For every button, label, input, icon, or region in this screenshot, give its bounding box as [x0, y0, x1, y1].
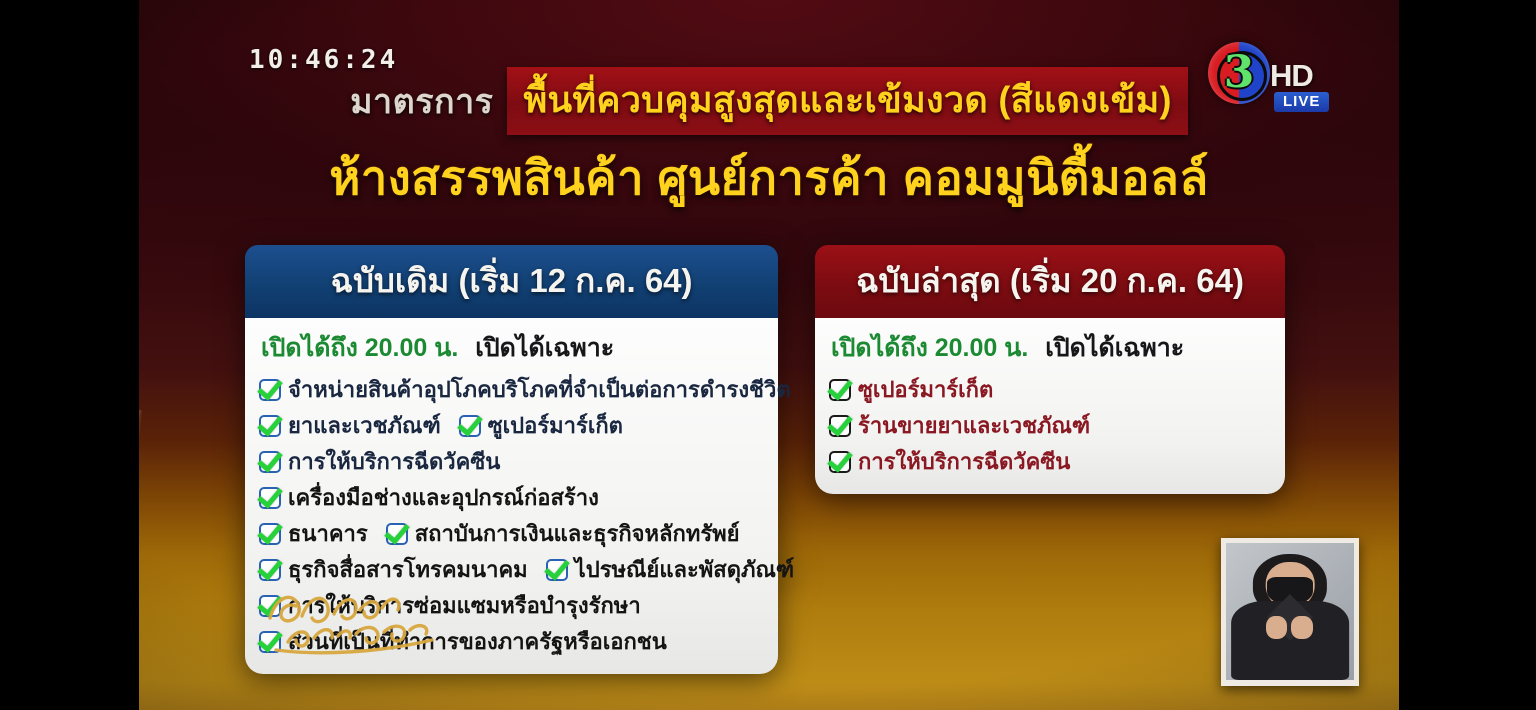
- list-item-segment: การให้บริการฉีดวัคซีน: [829, 444, 1070, 479]
- list-item-label: ร้านขายยาและเวชภัณฑ์: [858, 408, 1090, 443]
- list-item-label: ยาและเวชภัณฑ์: [288, 408, 441, 443]
- pillarbox-right: [1399, 0, 1536, 710]
- list-item-segment: ซูเปอร์มาร์เก็ต: [829, 372, 993, 407]
- list-item-segment: ส่วนที่เป็นที่ทำการของภาครัฐหรือเอกชน: [259, 624, 667, 659]
- interpreter-hand-left: [1266, 616, 1288, 639]
- interpreter-hand-right: [1291, 616, 1313, 639]
- on-air-clock: 10:46:24: [249, 45, 398, 75]
- checkmark-icon: [386, 523, 408, 545]
- checkmark-icon: [259, 451, 281, 473]
- open-hours-line-previous: เปิดได้ถึง 20.00 น. เปิดได้เฉพาะ: [261, 328, 762, 368]
- panel-body-previous: เปิดได้ถึง 20.00 น. เปิดได้เฉพาะ จำหน่าย…: [245, 318, 778, 674]
- sign-language-interpreter-inset: [1221, 538, 1359, 686]
- list-item: การให้บริการฉีดวัคซีน: [259, 444, 762, 479]
- list-item-label: สถาบันการเงินและธุรกิจหลักทรัพย์: [415, 516, 740, 551]
- headline-title: ห้างสรรพสินค้า ศูนย์การค้า คอมมูนิตี้มอล…: [139, 140, 1399, 215]
- checkmark-icon: [829, 451, 851, 473]
- checkmark-icon: [259, 559, 281, 581]
- channel-number: 3: [1208, 42, 1270, 104]
- checkmark-icon: [259, 379, 281, 401]
- list-item: ยาและเวชภัณฑ์ซูเปอร์มาร์เก็ต: [259, 408, 762, 443]
- channel-3-hd-live-logo: 3 HD LIVE: [1208, 42, 1330, 118]
- headline-banner-text: พื้นที่ควบคุมสูงสุดและเข้มงวด (สีแดงเข้ม…: [523, 79, 1171, 120]
- open-until-label: เปิดได้ถึง 20.00 น.: [831, 334, 1028, 362]
- broadcast-screen: 10:46:24 3 HD LIVE มาตรการ พื้นที่ควบคุม…: [0, 0, 1536, 710]
- list-item-segment: เครื่องมือช่างและอุปกรณ์ก่อสร้าง: [259, 480, 599, 515]
- list-item-segment: การให้บริการฉีดวัคซีน: [259, 444, 500, 479]
- list-item-segment: ไปรษณีย์และพัสดุภัณฑ์: [546, 552, 795, 587]
- panel-latest-version: ฉบับล่าสุด (เริ่ม 20 ก.ค. 64) เปิดได้ถึง…: [815, 245, 1285, 494]
- panel-previous-version: ฉบับเดิม (เริ่ม 12 ก.ค. 64) เปิดได้ถึง 2…: [245, 245, 778, 674]
- headline-kicker: มาตรการ: [350, 74, 493, 128]
- checkmark-icon: [829, 415, 851, 437]
- pillarbox-left: [0, 0, 139, 710]
- list-item-label: การให้บริการซ่อมแซมหรือบำรุงรักษา: [288, 588, 641, 623]
- checkmark-icon: [259, 523, 281, 545]
- list-item-segment: การให้บริการซ่อมแซมหรือบำรุงรักษา: [259, 588, 641, 623]
- list-item: ซูเปอร์มาร์เก็ต: [829, 372, 1269, 407]
- checkmark-icon: [259, 487, 281, 509]
- checkmark-icon: [459, 415, 481, 437]
- list-item-label: จำหน่ายสินค้าอุปโภคบริโภคที่จำเป็นต่อการ…: [288, 372, 791, 407]
- panel-body-latest: เปิดได้ถึง 20.00 น. เปิดได้เฉพาะ ซูเปอร์…: [815, 318, 1285, 494]
- allowed-business-list-latest: ซูเปอร์มาร์เก็ตร้านขายยาและเวชภัณฑ์การให…: [829, 372, 1269, 479]
- interpreter-video: [1226, 543, 1354, 680]
- open-only-label: เปิดได้เฉพาะ: [1045, 334, 1184, 362]
- list-item-segment: ธนาคาร: [259, 516, 368, 551]
- open-hours-line-latest: เปิดได้ถึง 20.00 น. เปิดได้เฉพาะ: [831, 328, 1269, 368]
- list-item: ส่วนที่เป็นที่ทำการของภาครัฐหรือเอกชน: [259, 624, 762, 659]
- open-only-label: เปิดได้เฉพาะ: [475, 334, 614, 362]
- panel-header-latest: ฉบับล่าสุด (เริ่ม 20 ก.ค. 64): [815, 245, 1285, 318]
- list-item-label: ซูเปอร์มาร์เก็ต: [858, 372, 993, 407]
- open-until-label: เปิดได้ถึง 20.00 น.: [261, 334, 458, 362]
- list-item-segment: ธุรกิจสื่อสารโทรคมนาคม: [259, 552, 528, 587]
- list-item: ธนาคารสถาบันการเงินและธุรกิจหลักทรัพย์: [259, 516, 762, 551]
- checkmark-icon: [546, 559, 568, 581]
- list-item-label: การให้บริการฉีดวัคซีน: [288, 444, 500, 479]
- list-item-segment: จำหน่ายสินค้าอุปโภคบริโภคที่จำเป็นต่อการ…: [259, 372, 791, 407]
- list-item-label: ไปรษณีย์และพัสดุภัณฑ์: [575, 552, 795, 587]
- checkmark-icon: [829, 379, 851, 401]
- list-item: ร้านขายยาและเวชภัณฑ์: [829, 408, 1269, 443]
- panel-header-previous: ฉบับเดิม (เริ่ม 12 ก.ค. 64): [245, 245, 778, 318]
- allowed-business-list-previous: จำหน่ายสินค้าอุปโภคบริโภคที่จำเป็นต่อการ…: [259, 372, 762, 659]
- hd-label: HD: [1270, 58, 1313, 94]
- live-badge: LIVE: [1274, 92, 1329, 112]
- list-item-label: ธุรกิจสื่อสารโทรคมนาคม: [288, 552, 528, 587]
- checkmark-icon: [259, 631, 281, 653]
- list-item-label: ส่วนที่เป็นที่ทำการของภาครัฐหรือเอกชน: [288, 624, 667, 659]
- headline-banner: พื้นที่ควบคุมสูงสุดและเข้มงวด (สีแดงเข้ม…: [507, 67, 1187, 135]
- list-item-segment: ซูเปอร์มาร์เก็ต: [459, 408, 623, 443]
- checkmark-icon: [259, 415, 281, 437]
- list-item: จำหน่ายสินค้าอุปโภคบริโภคที่จำเป็นต่อการ…: [259, 372, 762, 407]
- list-item-segment: ร้านขายยาและเวชภัณฑ์: [829, 408, 1090, 443]
- list-item: การให้บริการซ่อมแซมหรือบำรุงรักษา: [259, 588, 762, 623]
- list-item: เครื่องมือช่างและอุปกรณ์ก่อสร้าง: [259, 480, 762, 515]
- list-item-segment: ยาและเวชภัณฑ์: [259, 408, 441, 443]
- list-item-label: ธนาคาร: [288, 516, 368, 551]
- list-item-label: ซูเปอร์มาร์เก็ต: [488, 408, 623, 443]
- list-item: ธุรกิจสื่อสารโทรคมนาคมไปรษณีย์และพัสดุภั…: [259, 552, 762, 587]
- list-item-segment: สถาบันการเงินและธุรกิจหลักทรัพย์: [386, 516, 740, 551]
- checkmark-icon: [259, 595, 281, 617]
- list-item-label: การให้บริการฉีดวัคซีน: [858, 444, 1070, 479]
- list-item: การให้บริการฉีดวัคซีน: [829, 444, 1269, 479]
- list-item-label: เครื่องมือช่างและอุปกรณ์ก่อสร้าง: [288, 480, 599, 515]
